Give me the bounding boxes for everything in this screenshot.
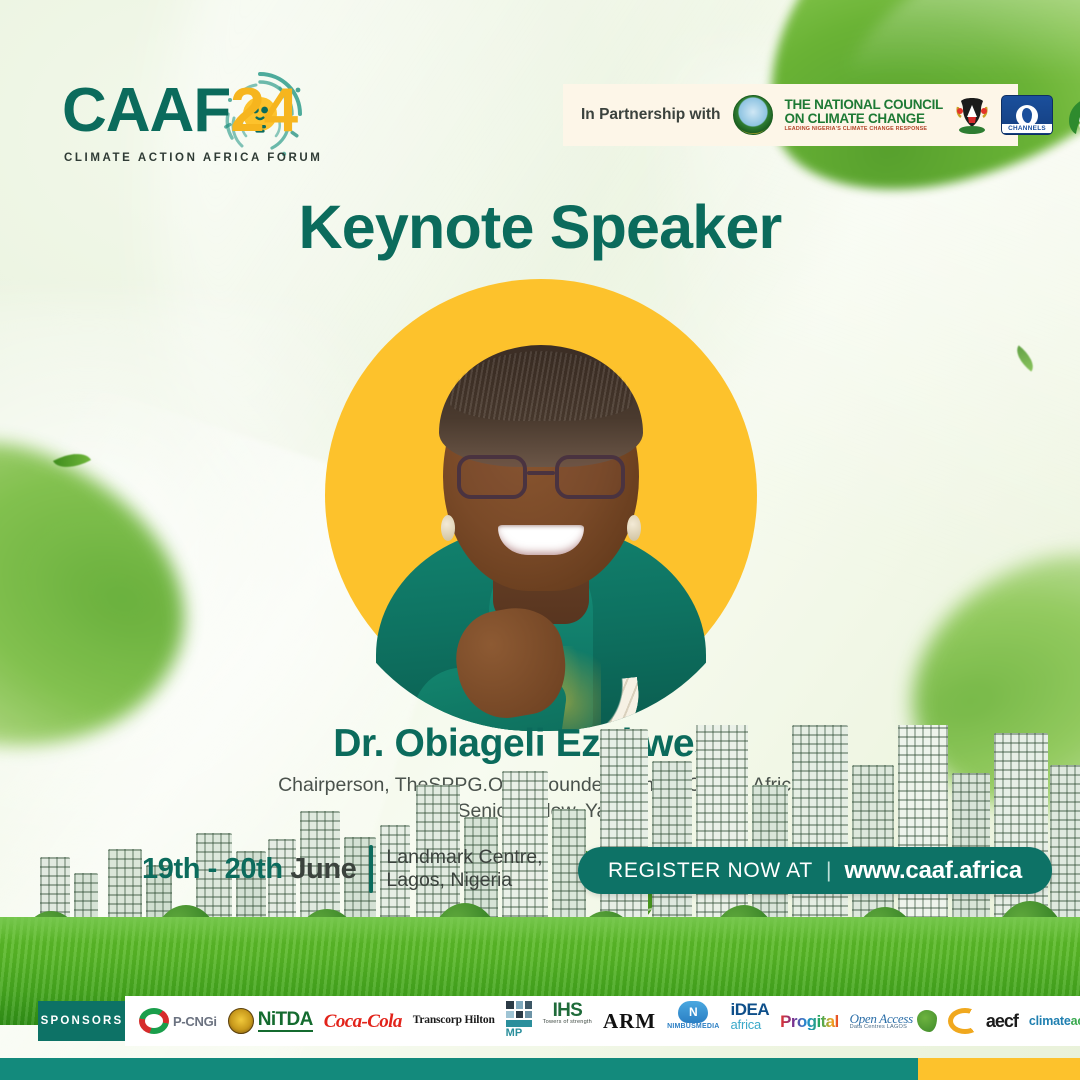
mp-squares-icon — [506, 1001, 532, 1027]
sponsors-label-badge: SPONSORS — [38, 1001, 126, 1041]
logo-text-caaf: CAAF24 — [62, 76, 297, 145]
nigeria-coat-of-arms-icon — [955, 95, 989, 135]
event-date-venue: 19th - 20th June Landmark Centre, Lagos,… — [142, 845, 542, 893]
register-label: REGISTER NOW AT — [608, 859, 813, 883]
sponsor-logo-climateaction-africa: climateaction.africa — [1029, 1001, 1080, 1041]
pcngi-mark-icon — [139, 1008, 169, 1034]
sponsor-logo-nitda: NiTDA — [228, 1001, 313, 1041]
channels-tv-logo: CHANNELS — [1001, 95, 1053, 135]
sponsor-logo-pcngi: P-CNGi — [139, 1001, 217, 1041]
idea-label: iDEA — [731, 1001, 770, 1018]
open-access-label: Open Access — [850, 1012, 913, 1025]
ihs-label: IHS — [553, 1001, 582, 1020]
speaker-role-line-1: Chairperson, TheSPPG.Org | Founder, Huma… — [0, 774, 1080, 797]
nimbus-cloud-icon — [678, 1001, 708, 1023]
sponsor-logo-transcorp-hilton: Transcorp Hilton — [413, 1001, 495, 1041]
bottom-color-bar — [0, 1058, 1080, 1080]
climateaction-part-1: climate — [1029, 1014, 1071, 1028]
arm-label: ARM — [603, 1011, 656, 1032]
register-separator: | — [826, 859, 831, 883]
nccc-wordmark: THE NATIONAL COUNCIL ON CLIMATE CHANGE L… — [785, 98, 944, 132]
sponsor-logo-open-access: Open Access Data Centres LAGOS — [850, 1001, 937, 1041]
leaf-7 — [1049, 834, 1080, 894]
climate-action-leaf-icon — [1065, 94, 1080, 136]
glasses-lens-left — [457, 455, 527, 499]
sponsor-logo-ihs: IHS Towers of strength — [543, 1001, 592, 1041]
event-date-range: 19th - 20th — [142, 853, 283, 885]
leaf-decoration-small-left — [53, 445, 91, 476]
africa-map-icon — [917, 1010, 937, 1032]
sponsor-logo-mp: MP — [506, 1001, 532, 1041]
partnership-banner: In Partnership with THE NATIONAL COUNCIL… — [563, 84, 1018, 146]
event-month: June — [290, 853, 356, 885]
bottom-bar-teal-segment — [0, 1058, 918, 1080]
sponsor-logo-aecf: aecf — [948, 1001, 1018, 1041]
leaf-decoration-small-right — [1011, 345, 1039, 371]
aecf-ring-icon — [948, 1008, 982, 1034]
caaf24-logo: CAAF24 CLIMATE ACTION AFRICA FORUM — [52, 70, 302, 170]
portrait-glasses — [457, 455, 625, 501]
idea-africa-label: africa — [731, 1018, 762, 1031]
nitda-seal-icon — [228, 1008, 254, 1034]
bottom-bar-yellow-segment — [918, 1058, 1080, 1080]
mp-label: MP — [506, 1028, 523, 1039]
climateaction-label: climateaction.africa — [1029, 1015, 1080, 1028]
page-title: Keynote Speaker — [0, 192, 1080, 262]
portrait-hair — [439, 345, 643, 467]
channels-caption: CHANNELS — [1002, 124, 1052, 133]
pcngi-label: P-CNGi — [173, 1015, 217, 1028]
climateaction-part-2: action — [1071, 1014, 1080, 1028]
sponsor-logo-cocacola: Coca-Cola — [324, 1001, 402, 1041]
speaker-photo — [325, 279, 757, 731]
event-date: 19th - 20th June — [142, 853, 356, 886]
sponsor-logo-nimbus-media: NIMBUSMEDIA — [667, 1001, 719, 1041]
speaker-role-line-2: Senior Fellow, Yale — [0, 800, 1080, 823]
partnership-label: In Partnership with — [581, 106, 721, 124]
sponsor-logo-progital: Progital — [780, 1001, 839, 1041]
transcorp-hilton-label: Transcorp Hilton — [413, 1015, 495, 1027]
nccc-line-2: ON CLIMATE CHANGE — [785, 112, 944, 126]
aecf-label: aecf — [986, 1012, 1018, 1030]
glasses-lens-right — [555, 455, 625, 499]
date-venue-divider — [369, 845, 373, 893]
speaker-name: Dr. Obiageli Ezekwesili — [0, 722, 1080, 766]
nimbus-label: NIMBUSMEDIA — [667, 1023, 719, 1030]
nccc-line-3: LEADING NIGERIA'S CLIMATE CHANGE RESPONS… — [785, 127, 944, 133]
poster-canvas: CAAF24 CLIMATE ACTION AFRICA FORUM In Pa… — [0, 0, 1080, 1080]
nitda-label: NiTDA — [258, 1010, 313, 1032]
register-url[interactable]: www.caaf.africa — [844, 857, 1022, 885]
tree-line — [0, 889, 1080, 985]
sponsors-label: SPONSORS — [41, 1015, 124, 1027]
venue-line-2: Lagos, Nigeria — [386, 869, 542, 892]
event-venue: Landmark Centre, Lagos, Nigeria — [386, 846, 542, 893]
sponsors-bar: P-CNGi NiTDA Coca-Cola Transcorp Hilton … — [125, 996, 1080, 1046]
register-now-button[interactable]: REGISTER NOW AT | www.caaf.africa — [578, 847, 1052, 894]
open-access-sublabel: Data Centres LAGOS — [850, 1025, 907, 1031]
sponsor-logo-arm: ARM — [603, 1001, 656, 1041]
portrait-ear-left — [441, 515, 455, 541]
portrait-ear-right — [627, 515, 641, 541]
nccc-line-1: THE NATIONAL COUNCIL — [785, 98, 944, 112]
logo-tagline: CLIMATE ACTION AFRICA FORUM — [64, 152, 322, 164]
progital-label: Progital — [780, 1013, 839, 1030]
logo-wordmark: CAAF24 — [62, 80, 297, 142]
venue-line-1: Landmark Centre, — [386, 846, 542, 869]
nccc-seal-icon — [733, 95, 773, 135]
ihs-tagline: Towers of strength — [543, 1020, 592, 1026]
sponsor-logo-idea-africa: iDEA africa — [731, 1001, 770, 1041]
speaker-portrait — [325, 279, 757, 711]
glasses-bridge — [527, 471, 555, 475]
cocacola-label: Coca-Cola — [324, 1012, 402, 1031]
